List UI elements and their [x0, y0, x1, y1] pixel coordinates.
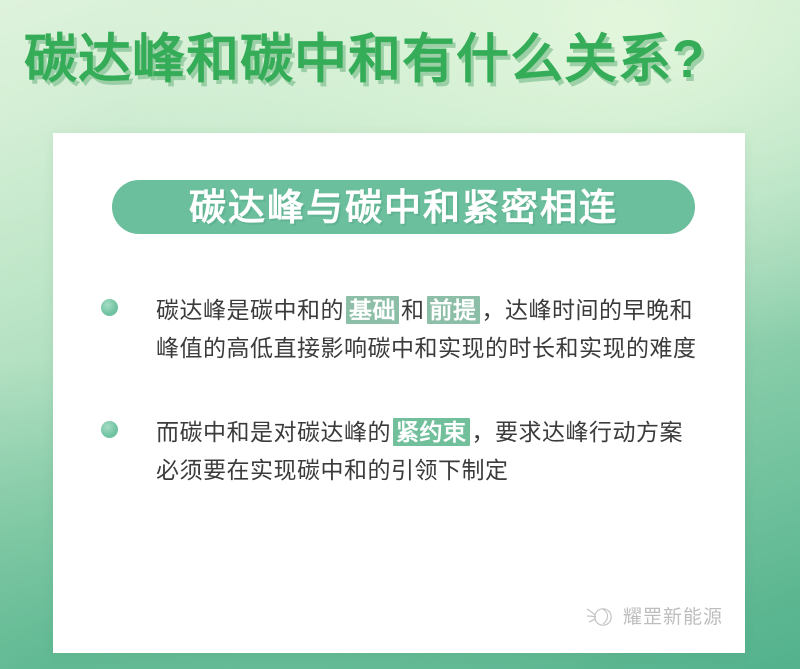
bullet-dot-icon: [101, 421, 118, 438]
list-item: 而碳中和是对碳达峰的紧约束，要求达峰行动方案必须要在实现碳中和的引领下制定: [101, 413, 701, 489]
list-item: 碳达峰是碳中和的基础和前提，达峰时间的早晚和峰值的高低直接影响碳中和实现的时长和…: [101, 291, 701, 367]
poster-canvas: 碳达峰和碳中和有什么关系? 碳达峰与碳中和紧密相连 碳达峰是碳中和的基础和前提，…: [0, 0, 800, 669]
content-card: 碳达峰与碳中和紧密相连 碳达峰是碳中和的基础和前提，达峰时间的早晚和峰值的高低直…: [53, 133, 745, 653]
page-title: 碳达峰和碳中和有什么关系?: [24, 24, 784, 96]
section-title-pill: 碳达峰与碳中和紧密相连: [112, 180, 695, 234]
section-title-text: 碳达峰与碳中和紧密相连: [189, 189, 618, 226]
bullet-dot-icon: [101, 299, 118, 316]
watermark: 耀罡新能源: [585, 602, 723, 629]
bullet-text: 碳达峰是碳中和的基础和前提，达峰时间的早晚和峰值的高低直接影响碳中和实现的时长和…: [156, 291, 701, 367]
bullet-list: 碳达峰是碳中和的基础和前提，达峰时间的早晚和峰值的高低直接影响碳中和实现的时长和…: [101, 291, 701, 535]
watermark-text: 耀罡新能源: [623, 602, 723, 629]
leaf-circle-logo-icon: [585, 605, 615, 627]
highlighted-term: 前提: [427, 296, 480, 324]
highlighted-term: 紧约束: [393, 418, 470, 446]
bullet-text: 而碳中和是对碳达峰的紧约束，要求达峰行动方案必须要在实现碳中和的引领下制定: [156, 413, 701, 489]
highlighted-term: 基础: [346, 296, 399, 324]
